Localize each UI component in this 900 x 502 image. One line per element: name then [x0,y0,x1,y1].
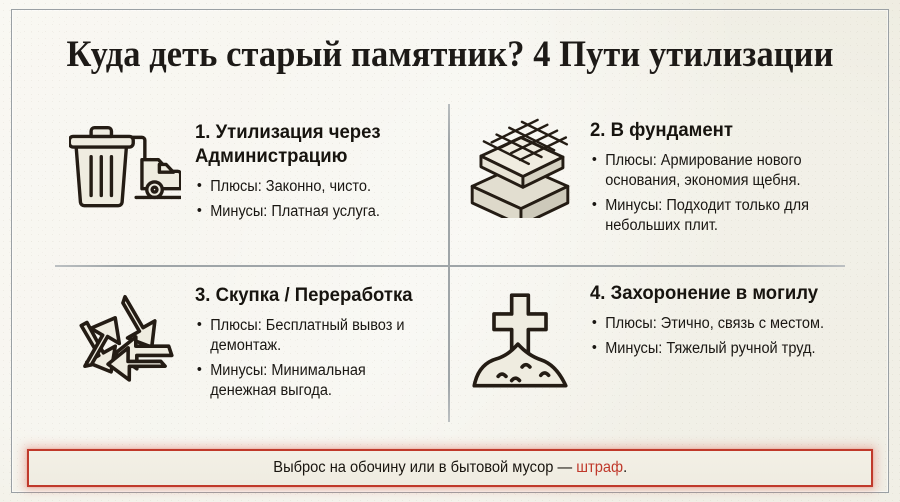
list-item: Минусы: Платная услуга. [195,202,435,222]
quadrant-1-heading: 1. Утилизация через Администрацию [195,120,435,168]
quadrant-4: 4. Захоронение в могилу Плюсы: Этично, с… [450,267,843,428]
recycling-arrows-icon [55,267,195,428]
quadrant-1-text: 1. Утилизация через Администрацию Плюсы:… [195,104,448,265]
quadrant-1-bullets: Плюсы: Законно, чисто. Минусы: Платная у… [195,177,448,222]
fine-highlight: штраф [576,459,623,476]
infographic-poster: Куда деть старый памятник? 4 Пути утилиз… [0,0,900,502]
quadrant-2-text: 2. В фундамент Плюсы: Армирование нового… [590,104,843,265]
quadrant-3-heading: 3. Скупка / Переработка [195,283,435,307]
concrete-slab-foundation-icon [450,104,590,265]
quadrant-4-heading: 4. Захоронение в могилу [590,281,830,305]
quadrant-3: 3. Скупка / Переработка Плюсы: Бесплатны… [55,267,448,428]
quadrant-2: 2. В фундамент Плюсы: Армирование нового… [450,104,843,265]
list-item: Минусы: Тяжелый ручной труд. [590,339,830,359]
quadrant-3-text: 3. Скупка / Переработка Плюсы: Бесплатны… [195,267,448,428]
warning-text-after: . [623,459,627,476]
warning-text-before: Выброс на обочину или в бытовой мусор — [273,459,576,476]
list-item: Минусы: Минимальная денежная выгода. [195,361,435,401]
warning-banner: Выброс на обочину или в бытовой мусор — … [27,449,873,487]
list-item: Плюсы: Бесплатный вывоз и демонтаж. [195,316,435,356]
quadrant-grid: 1. Утилизация через Администрацию Плюсы:… [55,104,845,422]
quadrant-2-heading: 2. В фундамент [590,118,830,142]
warning-banner-text: Выброс на обочину или в бытовой мусор — … [273,459,627,477]
quadrant-3-bullets: Плюсы: Бесплатный вывоз и демонтаж. Мину… [195,316,448,401]
page-title: Куда деть старый памятник? 4 Пути утилиз… [32,33,869,76]
list-item: Минусы: Подходит только для небольших пл… [590,196,830,236]
list-item: Плюсы: Законно, чисто. [195,177,435,197]
quadrant-2-bullets: Плюсы: Армирование нового основания, эко… [590,151,843,236]
quadrant-4-text: 4. Захоронение в могилу Плюсы: Этично, с… [590,267,843,428]
list-item: Плюсы: Этично, связь с местом. [590,314,830,334]
trash-bin-and-garbage-truck-icon [55,104,195,265]
list-item: Плюсы: Армирование нового основания, эко… [590,151,830,191]
quadrant-1: 1. Утилизация через Администрацию Плюсы:… [55,104,448,265]
grave-with-cross-icon [450,267,590,428]
quadrant-4-bullets: Плюсы: Этично, связь с местом. Минусы: Т… [590,314,843,359]
